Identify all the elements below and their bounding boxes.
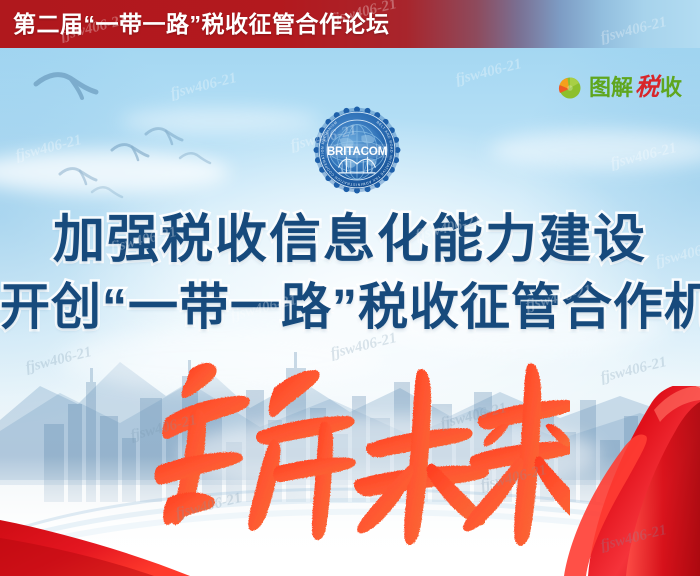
banner-title: 第二届“一带一路”税收征管合作论坛	[13, 13, 390, 36]
poster-canvas: 第二届“一带一路”税收征管合作论坛 图解 税 收	[0, 0, 700, 576]
red-silk-ribbon-left	[0, 506, 260, 576]
logo-text-tujie: 图解	[589, 77, 633, 99]
red-silk-ribbon-right	[440, 386, 700, 576]
headline-line-1: 加强税收信息化能力建设	[0, 214, 700, 266]
logo-text: 图解 税 收	[589, 76, 682, 100]
logo-text-shou: 收	[660, 77, 682, 99]
flying-birds	[20, 62, 280, 212]
svg-text:BRITACOM: BRITACOM	[327, 145, 387, 158]
top-banner: 第二届“一带一路”税收征管合作论坛	[0, 0, 700, 48]
logo-text-shui: 税	[635, 76, 659, 100]
brand-logo[interactable]: 图解 税 收	[558, 76, 682, 100]
headline-line-2: 开创“一带一路”税收征管合作机制	[0, 282, 700, 332]
britacom-emblem: BELT AND ROAD INITIATIVE TAX ADMINISTRAT…	[313, 106, 401, 194]
pie-chart-icon	[558, 76, 582, 100]
